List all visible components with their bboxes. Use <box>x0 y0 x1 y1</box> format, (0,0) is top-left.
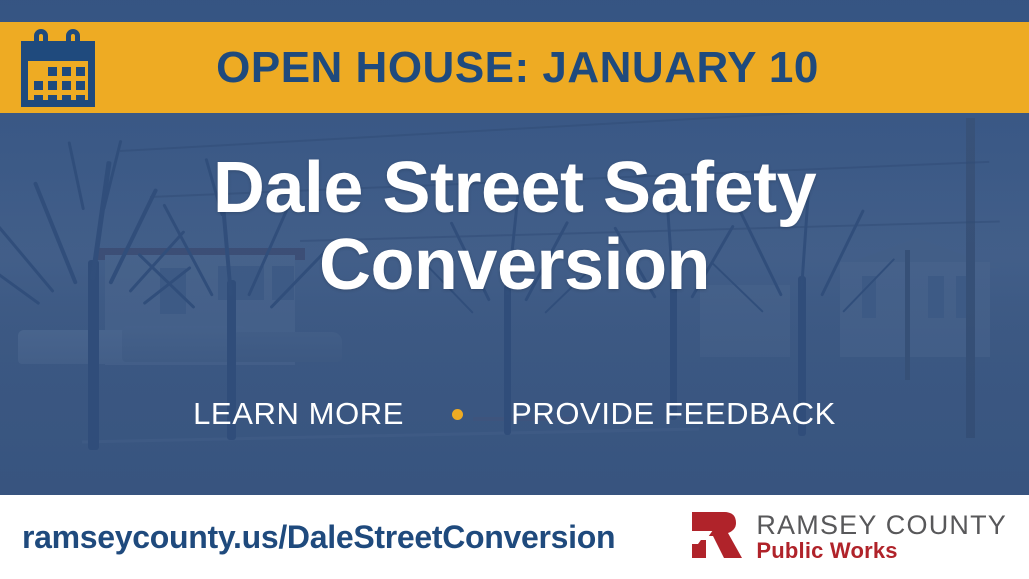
project-url[interactable]: ramseycounty.us/DaleStreetConversion <box>22 519 615 556</box>
ramsey-county-public-works-logo: RAMSEY COUNTY Public Works <box>690 510 1007 565</box>
open-house-header-bar: OPEN HOUSE: JANUARY 10 <box>0 22 1029 113</box>
calendar-icon-container <box>0 22 116 113</box>
project-title-line-2: Conversion <box>0 227 1029 304</box>
project-title: Dale Street Safety Conversion <box>0 150 1029 304</box>
calendar-icon <box>21 29 95 107</box>
calendar-header-band <box>21 41 95 61</box>
learn-more-link[interactable]: LEARN MORE <box>193 396 404 432</box>
bullet-dot-icon <box>452 409 463 420</box>
provide-feedback-link[interactable]: PROVIDE FEEDBACK <box>511 396 836 432</box>
logo-county-name: RAMSEY COUNTY <box>756 512 1007 539</box>
logo-department-name: Public Works <box>756 540 897 562</box>
dale-street-open-house-banner: OPEN HOUSE: JANUARY 10 Dale Street Safet… <box>0 0 1029 579</box>
hero-text-block: Dale Street Safety Conversion <box>0 150 1029 304</box>
logo-wordmark: RAMSEY COUNTY Public Works <box>756 512 1007 562</box>
ramsey-r-mark-icon <box>690 510 744 565</box>
project-title-line-1: Dale Street Safety <box>213 148 816 228</box>
call-to-action-row: LEARN MORE PROVIDE FEEDBACK <box>0 396 1029 432</box>
calendar-day-grid <box>31 67 85 104</box>
footer-bar: ramseycounty.us/DaleStreetConversion RAM… <box>0 495 1029 579</box>
open-house-title: OPEN HOUSE: JANUARY 10 <box>116 43 1029 93</box>
